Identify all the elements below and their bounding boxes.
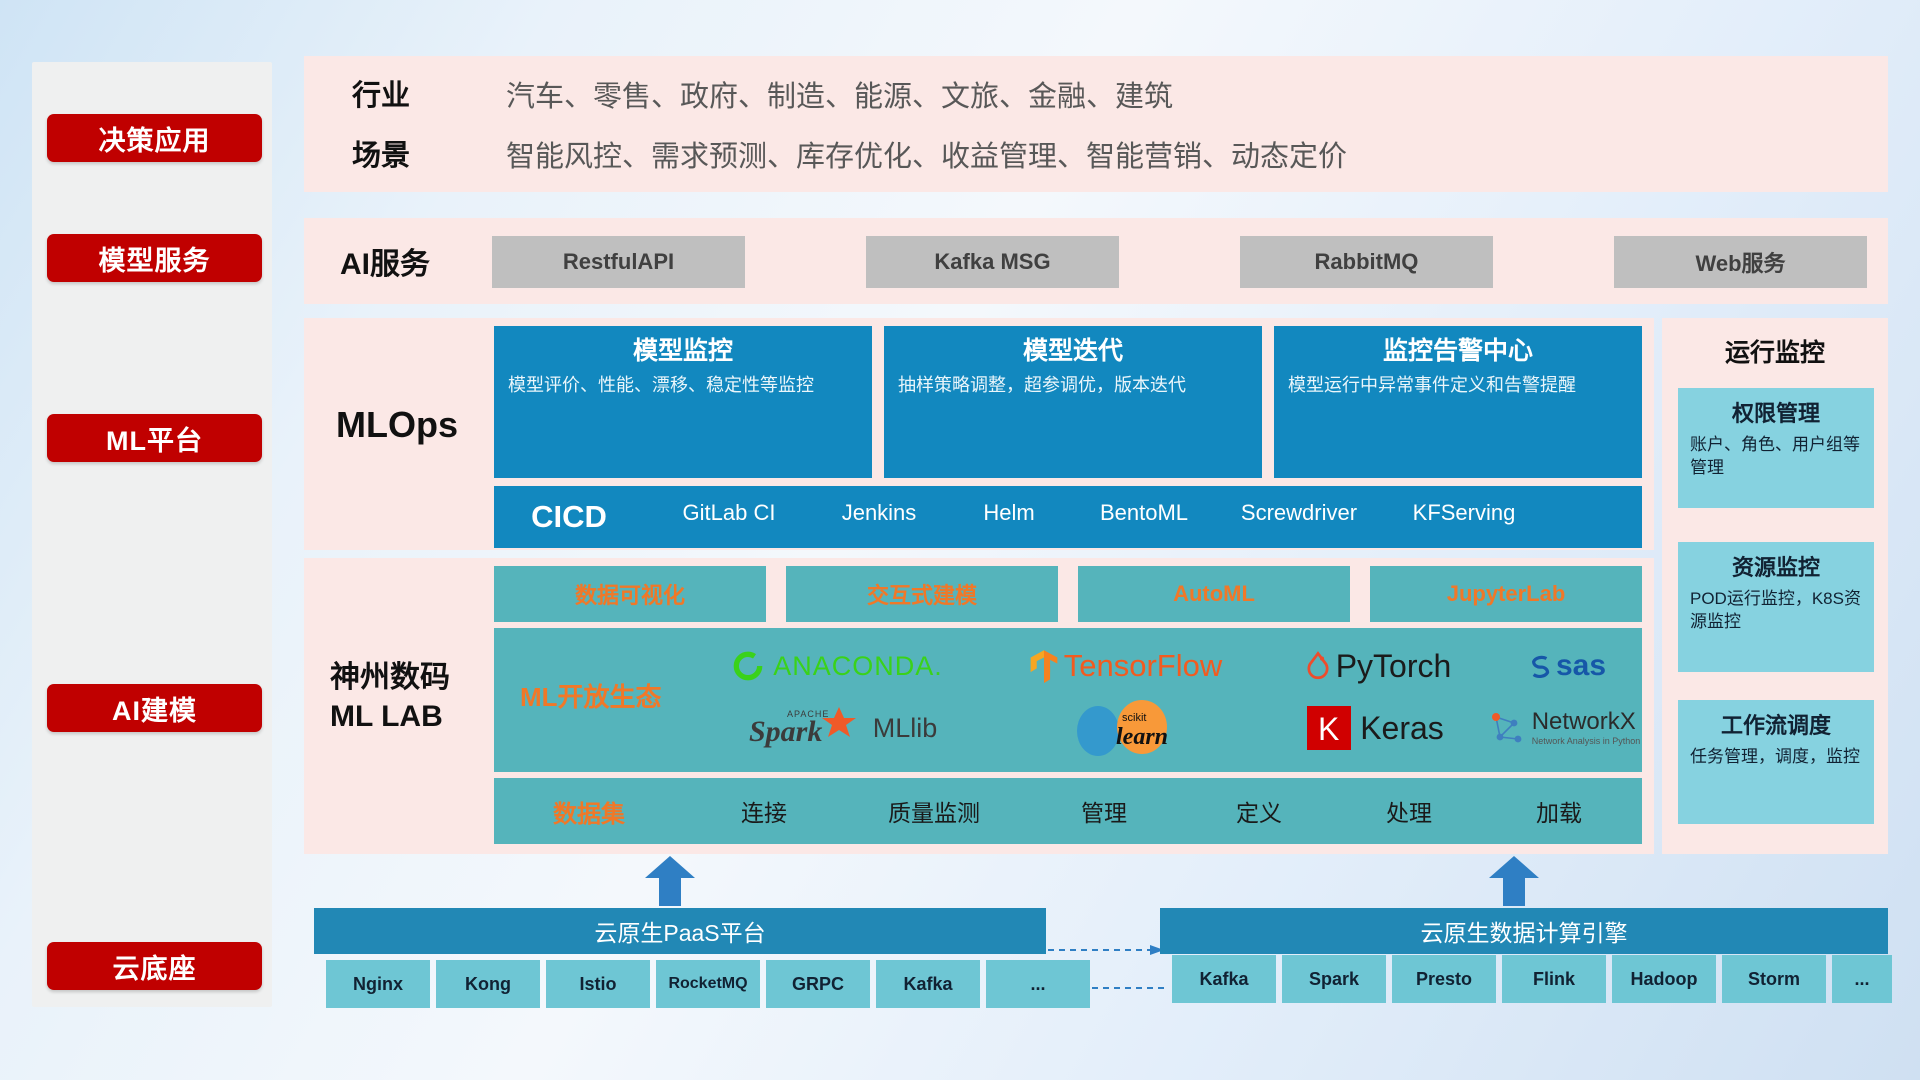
mlops-card-desc: 抽样策略调整，超参调优，版本迭代 [898, 373, 1248, 397]
ai-service-label: AI服务 [340, 238, 490, 284]
logo-tensorflow: TensorFlow [1000, 640, 1250, 692]
scenario-value: 智能风控、需求预测、库存优化、收益管理、智能营销、动态定价 [506, 132, 1846, 176]
monitoring-title: 运行监控 [1662, 326, 1888, 376]
monitoring-card-desc: POD运行监控，K8S资源监控 [1690, 588, 1862, 634]
logo-pytorch: PyTorch [1268, 640, 1488, 692]
scikit-learn-icon: scikit learn [1070, 699, 1190, 757]
tool-tab-jupyterlab[interactable]: JupyterLab [1370, 566, 1642, 622]
logo-anaconda-text: ANACONDA. [773, 651, 943, 682]
industry-value: 汽车、零售、政府、制造、能源、文旅、金融、建筑 [506, 72, 1846, 116]
svg-text:learn: learn [1116, 724, 1168, 750]
networkx-icon [1486, 707, 1528, 749]
mllab-label-line1: 神州数码 [330, 658, 510, 697]
mlops-card-alert-center[interactable]: 监控告警中心 模型运行中异常事件定义和告警提醒 [1274, 326, 1642, 478]
sas-icon [1524, 651, 1554, 681]
leaf-more-left[interactable]: ... [986, 960, 1090, 1008]
ml-ecosystem-label: ML开放生态 [520, 670, 710, 720]
rail-item-model-service[interactable]: 模型服务 [47, 234, 262, 282]
rail-item-ml-platform[interactable]: ML平台 [47, 414, 262, 462]
cloud-data-engine-bar: 云原生数据计算引擎 [1160, 908, 1888, 954]
mlops-card-desc: 模型运行中异常事件定义和告警提醒 [1288, 373, 1628, 397]
leaf-kafka-left[interactable]: Kafka [876, 960, 980, 1008]
leaf-hadoop[interactable]: Hadoop [1612, 955, 1716, 1003]
dataset-item-connect[interactable]: 连接 [684, 794, 844, 828]
cicd-item-gitlab-ci[interactable]: GitLab CI [644, 496, 814, 538]
monitoring-card-title: 工作流调度 [1690, 708, 1862, 740]
mlops-card-model-iteration[interactable]: 模型迭代 抽样策略调整，超参调优，版本迭代 [884, 326, 1262, 478]
mlops-card-model-monitor[interactable]: 模型监控 模型评价、性能、漂移、稳定性等监控 [494, 326, 872, 478]
mlops-card-desc: 模型评价、性能、漂移、稳定性等监控 [508, 373, 858, 397]
tool-tab-automl[interactable]: AutoML [1078, 566, 1350, 622]
mllab-label-line2: ML LAB [330, 697, 510, 736]
cicd-item-screwdriver[interactable]: Screwdriver [1214, 496, 1384, 538]
architecture-diagram: 决策应用 模型服务 ML平台 AI建模 云底座 行业 汽车、零售、政府、制造、能… [0, 0, 1920, 1080]
leaf-presto[interactable]: Presto [1392, 955, 1496, 1003]
svg-text:K: K [1318, 711, 1339, 747]
cicd-bar: CICD GitLab CI Jenkins Helm BentoML Scre… [494, 486, 1642, 548]
industry-label: 行业 [352, 72, 462, 114]
leaf-storm[interactable]: Storm [1722, 955, 1826, 1003]
dataset-item-manage[interactable]: 管理 [1024, 794, 1184, 828]
dataset-row-content: 数据集 连接 质量监测 管理 定义 处理 加载 [494, 778, 1642, 844]
logo-networkx: NetworkX Network Analysis in Python [1478, 700, 1648, 756]
monitoring-card-desc: 账户、角色、用户组等管理 [1690, 434, 1862, 480]
tool-tab-data-viz[interactable]: 数据可视化 [494, 566, 766, 622]
monitoring-card-workflow[interactable]: 工作流调度 任务管理，调度，监控 [1678, 700, 1874, 824]
tensorflow-icon [1028, 649, 1060, 683]
anaconda-icon [731, 649, 765, 683]
rail-item-ai-modeling[interactable]: AI建模 [47, 684, 262, 732]
spark-icon: Spark APACHE [747, 705, 867, 751]
logo-sas-text: sas [1556, 649, 1606, 683]
logo-networkx-tagline: Network Analysis in Python [1532, 737, 1641, 746]
cicd-title: CICD [494, 499, 644, 535]
cicd-item-jenkins[interactable]: Jenkins [814, 496, 944, 538]
svg-text:Spark: Spark [749, 715, 822, 748]
rail-item-decision-app[interactable]: 决策应用 [47, 114, 262, 162]
monitoring-card-resource[interactable]: 资源监控 POD运行监控，K8S资源监控 [1678, 542, 1874, 672]
leaf-istio[interactable]: Istio [546, 960, 650, 1008]
service-pill-kafka-msg[interactable]: Kafka MSG [866, 236, 1119, 288]
leaf-nginx[interactable]: Nginx [326, 960, 430, 1008]
leaf-grpc[interactable]: GRPC [766, 960, 870, 1008]
mllab-label: 神州数码 ML LAB [330, 658, 510, 736]
leaf-flink[interactable]: Flink [1502, 955, 1606, 1003]
dataset-item-define[interactable]: 定义 [1184, 794, 1334, 828]
logo-mllib-text: MLlib [873, 713, 938, 744]
service-pill-web-service[interactable]: Web服务 [1614, 236, 1867, 288]
monitoring-card-title: 资源监控 [1690, 550, 1862, 582]
cloud-paas-bar: 云原生PaaS平台 [314, 908, 1046, 954]
monitoring-card-title: 权限管理 [1690, 396, 1862, 428]
svg-text:scikit: scikit [1122, 712, 1146, 724]
scenario-label: 场景 [352, 132, 462, 174]
pytorch-icon [1305, 650, 1331, 682]
left-rail: 决策应用 模型服务 ML平台 AI建模 云底座 [32, 62, 272, 1007]
tool-tab-interactive[interactable]: 交互式建模 [786, 566, 1058, 622]
leaf-rocketmq[interactable]: RocketMQ [656, 960, 760, 1008]
service-pill-restfulapi[interactable]: RestfulAPI [492, 236, 745, 288]
rail-item-cloud-base[interactable]: 云底座 [47, 942, 262, 990]
arrow-up-left [640, 856, 700, 906]
cicd-item-bentoml[interactable]: BentoML [1074, 496, 1214, 538]
monitoring-card-desc: 任务管理，调度，监控 [1690, 746, 1862, 769]
logo-networkx-text: NetworkX [1532, 710, 1641, 734]
logo-keras-text: Keras [1360, 710, 1444, 747]
monitoring-card-permission[interactable]: 权限管理 账户、角色、用户组等管理 [1678, 388, 1874, 508]
mlops-card-title: 模型监控 [508, 336, 858, 367]
arrow-up-right [1484, 856, 1544, 906]
logo-pytorch-text: PyTorch [1336, 648, 1452, 685]
leaf-more-right[interactable]: ... [1832, 955, 1892, 1003]
leaf-kong[interactable]: Kong [436, 960, 540, 1008]
service-pill-rabbitmq[interactable]: RabbitMQ [1240, 236, 1493, 288]
mlops-label: MLOps [336, 400, 506, 450]
dataset-item-process[interactable]: 处理 [1334, 794, 1484, 828]
logo-sas: sas [1490, 640, 1640, 692]
dataset-item-load[interactable]: 加载 [1484, 794, 1634, 828]
cicd-item-kfserving[interactable]: KFServing [1384, 496, 1544, 538]
dataset-item-quality[interactable]: 质量监测 [844, 794, 1024, 828]
logo-anaconda: ANACONDA. [712, 640, 962, 692]
logo-keras: K Keras [1270, 700, 1480, 756]
keras-icon: K [1306, 705, 1352, 751]
logo-spark-mllib: Spark APACHE MLlib [712, 700, 972, 756]
mlops-card-title: 模型迭代 [898, 336, 1248, 367]
logo-scikit-learn: scikit learn [1030, 698, 1230, 758]
svg-text:APACHE: APACHE [787, 709, 829, 719]
mlops-card-title: 监控告警中心 [1288, 336, 1628, 367]
leaf-kafka-right[interactable]: Kafka [1172, 955, 1276, 1003]
cicd-item-helm[interactable]: Helm [944, 496, 1074, 538]
dataset-label: 数据集 [494, 794, 684, 829]
logo-tensorflow-text: TensorFlow [1064, 648, 1223, 684]
leaf-spark[interactable]: Spark [1282, 955, 1386, 1003]
